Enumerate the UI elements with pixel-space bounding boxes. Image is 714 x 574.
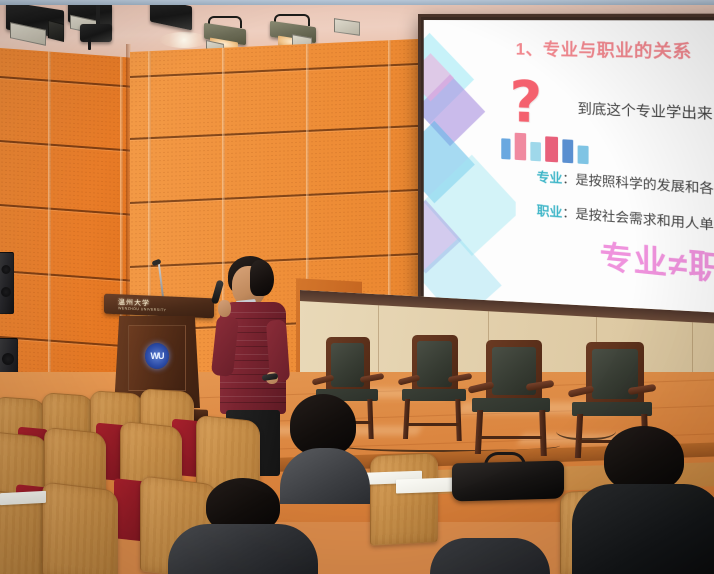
chair-stretcher [406, 423, 460, 426]
figure-bar-1 [501, 138, 510, 159]
audience-shoulders [430, 538, 550, 574]
projection-screen: 1、专业与职业的关系 ? 到底这个专业学出来 专业：是按照科学的发展和各个学科 … [418, 14, 714, 346]
seat-wood-grain [43, 482, 117, 574]
wall-speaker-upper [0, 252, 14, 314]
question-figures-graphic [501, 128, 593, 165]
stage-chair-2 [398, 335, 476, 445]
presentation-slide: 1、专业与职业的关系 ? 到底这个专业学出来 专业：是按照科学的发展和各个学科 … [424, 20, 714, 337]
chair-stretcher [478, 436, 542, 439]
stage-light-3 [66, 4, 128, 54]
audience-seat [370, 452, 438, 546]
lectern-university-name-en: WENZHOU UNIVERSITY [118, 306, 166, 312]
briefcase [452, 461, 564, 502]
wall-strip [48, 48, 51, 395]
slide-line-occupation-sep: ： [562, 205, 575, 221]
stage-chair-3 [470, 340, 562, 458]
chair-leg-front-left [575, 414, 583, 458]
lectern-top: 温州大学 WENZHOU UNIVERSITY [104, 294, 214, 319]
chair-leg-front-right [539, 410, 547, 456]
jacket-seam [220, 382, 286, 389]
chair-back-cushion [417, 341, 452, 387]
audience-shoulders [168, 524, 318, 574]
slide-line-major-sep: ： [562, 171, 575, 187]
figure-bar-5 [562, 139, 573, 163]
slide-title: 1、专业与职业的关系 [516, 35, 692, 63]
chair-seat [572, 402, 652, 416]
slide-decoration [424, 20, 516, 310]
figure-bar-3 [530, 142, 541, 162]
seat-wood-grain [371, 453, 437, 544]
audience-seat [42, 481, 118, 574]
chair-back-cushion [331, 343, 364, 387]
slide-line-major-key: 专业 [537, 170, 563, 187]
presenter-hair-side [250, 260, 274, 296]
slide-question-text: 到底这个专业学出来 [578, 97, 713, 123]
slide-line-occupation-key: 职业 [537, 203, 563, 220]
chair-leg-front-left [403, 399, 410, 439]
audience-hair [604, 426, 684, 492]
slide-line-major: 专业：是按照科学的发展和各个学科 [537, 167, 714, 200]
stage-light-4 [150, 2, 200, 34]
speaker-driver [1, 287, 11, 297]
slide-line-occupation: 职业：是按社会需求和用人单位的工 [537, 201, 714, 238]
speaker-driver [2, 265, 11, 274]
chair-leg-front-right [367, 399, 373, 439]
top-edge-strip [0, 0, 714, 5]
slide-line-major-text: 是按照科学的发展和各个学科 [575, 172, 714, 200]
chair-leg-front-left [475, 410, 483, 454]
light-cable [88, 38, 91, 50]
speaker-driver [2, 353, 14, 365]
auditorium-lecture-photo: 1、专业与职业的关系 ? 到底这个专业学出来 专业：是按照科学的发展和各个学科 … [0, 0, 714, 574]
audience-member-2 [178, 478, 308, 574]
audience-hair [290, 394, 356, 456]
university-logo-icon: WU [145, 343, 169, 369]
light-body [80, 24, 112, 42]
audience-member-3 [588, 426, 708, 574]
figure-bar-4 [545, 136, 558, 162]
presenter-hand-holding-mic [218, 300, 231, 317]
question-mark-graphic: ? [509, 74, 542, 132]
slide-headline: 专业≠职 [600, 232, 714, 291]
light-barndoor [334, 18, 360, 36]
chair-leg-front-right [455, 399, 461, 441]
papers-stack-c [0, 491, 46, 505]
figure-bar-6 [578, 145, 589, 164]
audience-shoulders [572, 484, 714, 574]
slide-line-occupation-text: 是按社会需求和用人单位的工 [575, 206, 714, 236]
audience-member-4 [430, 538, 550, 574]
figure-bar-2 [515, 133, 526, 161]
